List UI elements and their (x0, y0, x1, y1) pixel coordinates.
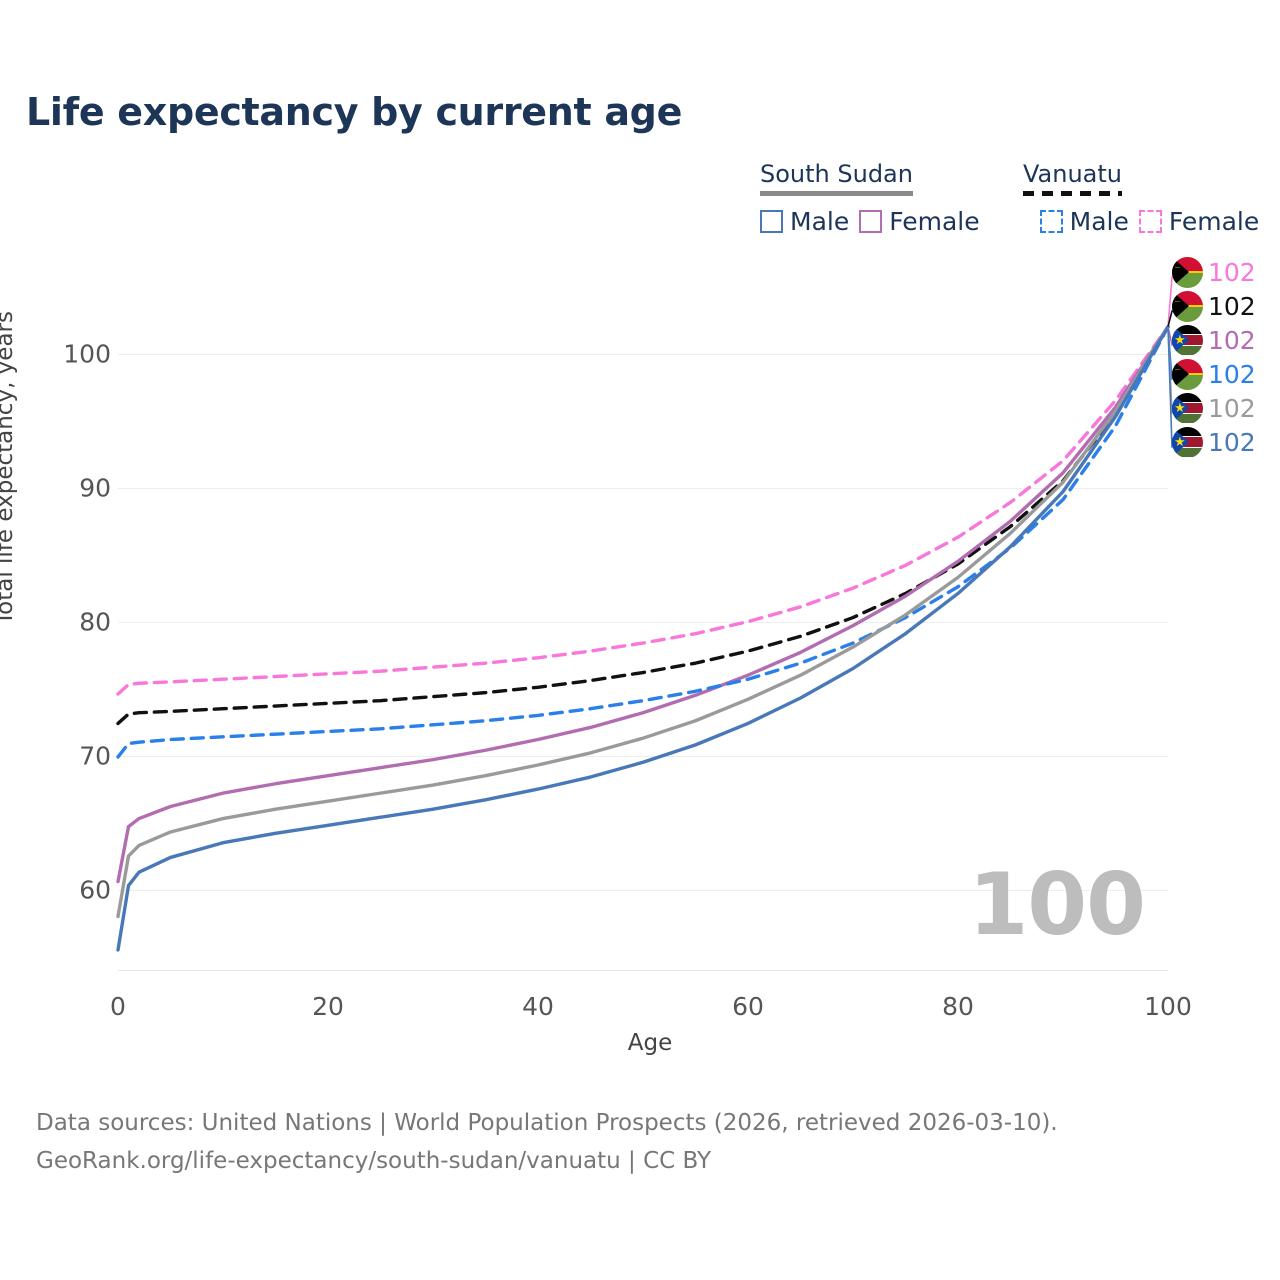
legend-item-label: Male (790, 207, 849, 236)
endpoint-labels: ‾102‾102★102‾102★102★102 (1172, 255, 1280, 459)
legend-item-vanuatu-female[interactable]: Female (1139, 207, 1259, 236)
y-axis-label: Total life expectancy, years (0, 188, 18, 748)
series-line (118, 327, 1168, 757)
footer-line-2: GeoRank.org/life-expectancy/south-sudan/… (36, 1143, 1058, 1181)
series-line (118, 327, 1168, 882)
legend-swatch-icon (859, 210, 882, 233)
x-axis-tick-label: 0 (110, 992, 126, 1021)
legend-swatch-icon (760, 210, 783, 233)
south-sudan-flag-icon: ★ (1172, 427, 1203, 458)
y-axis-tick-label: 90 (79, 473, 111, 502)
endpoint-value: 102 (1208, 396, 1256, 421)
south-sudan-flag-icon: ★ (1172, 325, 1203, 356)
chart-legend: South Sudan Vanuatu Male Female Male (760, 160, 1260, 236)
x-axis-line (118, 970, 1168, 971)
x-axis-label: Age (0, 1030, 1280, 1056)
y-axis-tick-label: 70 (79, 741, 111, 770)
legend-group-vanuatu: Vanuatu (1023, 160, 1122, 191)
y-axis-tick-label: 60 (79, 875, 111, 904)
endpoint-value: 102 (1208, 362, 1256, 387)
legend-item-label: Male (1070, 207, 1129, 236)
legend-swatch-icon (1139, 210, 1162, 233)
endpoint-label: ★102 (1172, 391, 1280, 425)
watermark: 100 (968, 862, 1145, 948)
endpoint-label: ‾102 (1172, 357, 1280, 391)
legend-rule-solid (760, 191, 913, 196)
endpoint-label: ‾102 (1172, 255, 1280, 289)
endpoint-label: ‾102 (1172, 289, 1280, 323)
vanuatu-flag-icon: ‾ (1172, 291, 1203, 322)
vanuatu-flag-icon: ‾ (1172, 257, 1203, 288)
legend-group-label: Vanuatu (1023, 160, 1122, 188)
x-axis-tick-label: 80 (942, 992, 974, 1021)
endpoint-value: 102 (1208, 294, 1256, 319)
x-axis-tick-label: 100 (1144, 992, 1192, 1021)
endpoint-value: 102 (1208, 430, 1256, 455)
endpoint-value: 102 (1208, 260, 1256, 285)
footer-line-1: Data sources: United Nations | World Pop… (36, 1105, 1058, 1143)
legend-swatch-icon (1040, 210, 1063, 233)
page-title: Life expectancy by current age (26, 90, 682, 134)
south-sudan-flag-icon: ★ (1172, 393, 1203, 424)
footer: Data sources: United Nations | World Pop… (36, 1105, 1058, 1181)
legend-item-label: Female (889, 207, 979, 236)
legend-item-south-sudan-male[interactable]: Male (760, 207, 849, 236)
x-axis-tick-label: 20 (312, 992, 344, 1021)
legend-group-south-sudan: South Sudan (760, 160, 913, 191)
vanuatu-flag-icon: ‾ (1172, 359, 1203, 390)
series-line (118, 327, 1168, 694)
x-axis-tick-label: 60 (732, 992, 764, 1021)
series-line (118, 327, 1168, 724)
legend-item-vanuatu-male[interactable]: Male (1040, 207, 1129, 236)
y-axis-tick-label: 100 (63, 339, 111, 368)
endpoint-label: ★102 (1172, 323, 1280, 357)
x-axis-label-text: Age (628, 1030, 672, 1056)
legend-rule-dashed (1023, 191, 1122, 196)
legend-item-label: Female (1169, 207, 1259, 236)
x-axis-tick-label: 40 (522, 992, 554, 1021)
series-line (118, 327, 1168, 917)
y-axis-tick-label: 80 (79, 607, 111, 636)
endpoint-value: 102 (1208, 328, 1256, 353)
legend-group-label: South Sudan (760, 160, 913, 188)
endpoint-label: ★102 (1172, 425, 1280, 459)
legend-item-south-sudan-female[interactable]: Female (859, 207, 979, 236)
